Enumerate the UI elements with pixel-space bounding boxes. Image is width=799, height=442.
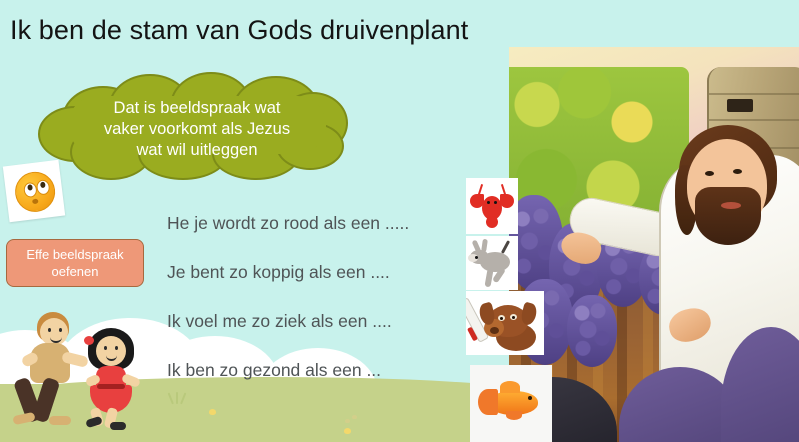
grape-bunch [567,295,617,367]
practice-beeldspraak-button[interactable]: Effe beeldspraak oefenen [6,239,144,287]
jesus-eye [705,171,714,176]
flower-petal [345,419,350,423]
practice-button-line-2: oefenen [26,263,123,280]
slide-canvas: Ik ben de stam van Gods druivenplant Dat… [0,0,799,442]
flower-petal [344,428,351,434]
jesus-beard [695,187,761,245]
sentence-row-3: Ik voel me zo ziek als een .... [167,311,392,332]
jesus-vineyard-illustration [509,47,799,442]
lobster-card[interactable] [466,178,518,234]
jesus-eye [733,169,742,174]
running-girl [82,328,144,428]
flower-petal [352,415,357,419]
running-boy [14,310,86,426]
goldfish-card[interactable] [470,365,552,442]
speech-cloud-text: Dat is beeldspraak wat vaker voorkomt al… [52,98,342,161]
sentence-row-2: Je bent zo koppig als een .... [167,262,390,283]
speech-line-1: Dat is beeldspraak wat [52,98,342,119]
speech-line-3: wat wil uitleggen [52,140,342,161]
donkey-card[interactable] [466,236,518,290]
practice-button-line-1: Effe beeldspraak [26,246,123,263]
speech-cloud: Dat is beeldspraak wat vaker voorkomt al… [52,72,342,176]
smiley-card [3,160,65,222]
sick-dog-card[interactable] [466,291,544,355]
flower-petal [209,409,216,415]
page-title: Ik ben de stam van Gods druivenplant [10,15,468,46]
jesus-mouth [721,202,741,209]
sentence-row-4: Ik ben zo gezond als een ... [167,360,381,381]
sentence-row-1: He je wordt zo rood als een ..... [167,213,409,234]
speech-line-2: vaker voorkomt als Jezus [52,119,342,140]
thinking-smiley-icon [13,170,58,215]
